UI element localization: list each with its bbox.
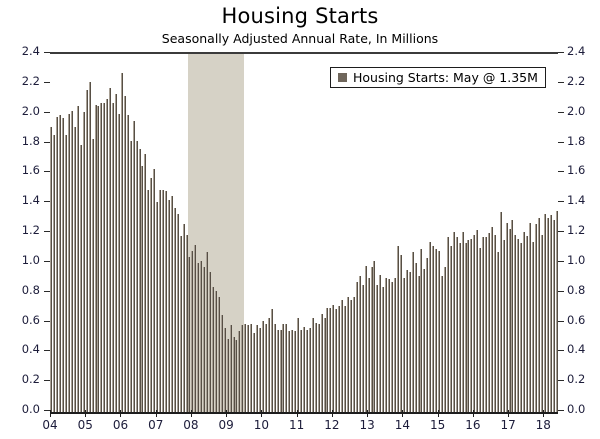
bar [470,239,472,412]
bar [459,243,461,412]
bar [144,154,146,412]
bar [450,246,452,412]
bar [315,323,317,413]
y-tick-label: 2.0 [567,106,595,118]
bar [376,285,378,412]
y-tick-label: 0.4 [12,344,40,356]
bar [191,251,193,412]
y-tick [558,171,564,172]
bar [529,223,531,412]
bar [309,328,311,412]
y-tick [558,291,564,292]
bar [265,324,267,412]
x-tick-label: 05 [73,419,97,431]
bar [127,115,129,412]
bar [74,127,76,412]
bar [506,223,508,412]
x-tick-label: 12 [320,419,344,431]
bar [282,324,284,412]
chart-subtitle: Seasonally Adjusted Annual Rate, In Mill… [0,31,600,46]
bar [206,252,208,412]
bar [121,73,123,412]
bar [312,318,314,412]
bar [212,287,214,412]
bar [268,318,270,412]
bar [503,240,505,412]
x-tick [367,410,368,417]
bar [371,267,373,412]
y-tick-label: 1.8 [567,136,595,148]
bar [403,278,405,412]
bar [95,105,97,412]
bar [297,318,299,412]
bar [183,224,185,412]
bar [426,258,428,412]
x-tick-label: 07 [144,419,168,431]
bar [130,141,132,412]
bar [385,278,387,412]
bar [350,300,352,412]
bar [227,339,229,412]
bar [409,272,411,412]
bar [71,111,73,412]
y-tick [44,82,50,83]
y-tick-label: 0.6 [12,315,40,327]
bar [188,257,190,412]
bar [491,227,493,412]
bar [136,141,138,412]
bar [262,321,264,412]
bar [218,297,220,412]
y-tick [44,350,50,351]
y-tick [44,291,50,292]
y-tick-label: 1.6 [567,165,595,177]
x-tick [191,410,192,417]
bar [326,308,328,412]
bar [141,166,143,412]
x-tick-label: 16 [461,419,485,431]
x-tick [85,410,86,417]
bar [473,235,475,413]
bar [186,235,188,413]
bar [509,229,511,412]
y-tick-label: 1.2 [567,225,595,237]
legend-swatch-icon [338,73,347,82]
bar [133,121,135,412]
bar [511,220,513,412]
bar [159,190,161,412]
bar [50,127,52,412]
bar [285,324,287,412]
y-tick [558,112,564,113]
bar [238,331,240,412]
bar [324,318,326,412]
y-tick [558,380,564,381]
bar [438,251,440,412]
bar [300,330,302,412]
bar [62,118,64,412]
bar [200,261,202,412]
bar [156,202,158,412]
bar [514,235,516,413]
x-tick [402,410,403,417]
y-tick [558,231,564,232]
bar [341,300,343,412]
bar [447,237,449,412]
bar [203,267,205,412]
bar [556,211,558,412]
x-tick-label: 11 [285,419,309,431]
y-tick-label: 2.2 [12,76,40,88]
bar [467,240,469,412]
bar [197,263,199,412]
bar [523,232,525,412]
x-tick [120,410,121,417]
x-tick-label: 04 [38,419,62,431]
bar [106,99,108,412]
x-tick-label: 09 [214,419,238,431]
bar [453,232,455,412]
bar [418,276,420,412]
y-tick-label: 0.0 [12,404,40,416]
bar [277,330,279,412]
bar [488,233,490,412]
y-tick [44,380,50,381]
bar [244,324,246,412]
bar [541,235,543,413]
y-tick [44,112,50,113]
bar [544,214,546,412]
bar [86,90,88,412]
bar [165,191,167,412]
bar [547,218,549,412]
bar [479,248,481,412]
bar [526,236,528,412]
bar [103,103,105,412]
bar [180,236,182,412]
y-tick [44,52,50,53]
x-tick [50,410,51,417]
bar [335,309,337,412]
bar [250,324,252,412]
bar [388,279,390,412]
bar [553,220,555,412]
bar [394,278,396,412]
y-tick [44,201,50,202]
y-tick [558,82,564,83]
x-tick [508,410,509,417]
bar [482,237,484,412]
y-tick-label: 1.8 [12,136,40,148]
bar [303,327,305,412]
bar [400,255,402,412]
bar [535,224,537,412]
bar [118,114,120,412]
bar [209,272,211,412]
bar [115,94,117,412]
y-tick-label: 0.0 [567,404,595,416]
bar [429,242,431,412]
x-tick-label: 13 [355,419,379,431]
bar [517,239,519,412]
y-tick [558,261,564,262]
plot-inner [50,54,558,412]
y-tick-label: 1.4 [12,195,40,207]
bar [256,325,258,412]
bar [171,196,173,412]
bar [423,269,425,412]
x-tick [473,410,474,417]
bar [494,235,496,413]
x-tick [543,410,544,417]
y-tick [558,350,564,351]
bar [406,270,408,412]
bar [59,115,61,412]
bar [353,297,355,412]
bar [53,135,55,412]
bar [318,324,320,412]
bar [147,190,149,412]
bar [365,266,367,412]
bar [538,218,540,412]
bar [224,328,226,412]
bar [97,106,99,412]
x-tick [297,410,298,417]
bar [153,169,155,412]
x-tick [261,410,262,417]
bar [476,230,478,412]
x-tick [332,410,333,417]
bar [420,249,422,412]
bar [356,282,358,412]
bar [221,315,223,412]
bar [89,82,91,412]
bar [68,114,70,412]
y-tick-label: 1.0 [567,255,595,267]
bar [100,103,102,412]
x-tick-label: 10 [249,419,273,431]
y-tick-label: 2.2 [567,76,595,88]
y-tick [44,142,50,143]
bar [465,243,467,412]
y-tick-label: 0.2 [12,374,40,386]
y-tick [558,142,564,143]
bar [235,340,237,412]
y-tick [44,231,50,232]
y-tick-label: 1.4 [567,195,595,207]
bar [109,88,111,412]
bar [368,278,370,412]
bar [150,178,152,412]
y-tick-label: 1.2 [12,225,40,237]
y-tick-label: 1.6 [12,165,40,177]
chart-legend[interactable]: Housing Starts: May @ 1.35M [330,67,546,88]
bar [441,276,443,412]
bar [274,324,276,412]
bar [397,246,399,412]
y-tick-label: 2.0 [12,106,40,118]
bar [462,232,464,412]
y-tick-label: 2.4 [12,46,40,58]
y-tick [558,410,564,411]
x-tick-label: 18 [531,419,555,431]
bar [432,246,434,412]
x-tick [156,410,157,417]
bar [253,333,255,412]
bar [532,242,534,412]
bar [168,200,170,412]
y-tick [44,171,50,172]
bar [444,267,446,412]
legend-label: Housing Starts: May @ 1.35M [353,70,538,85]
x-tick-label: 08 [179,419,203,431]
bar [177,214,179,412]
bar [56,117,58,412]
bar [435,249,437,412]
bar [456,237,458,412]
x-tick-label: 17 [496,419,520,431]
y-tick [44,261,50,262]
bar [259,328,261,412]
bar [485,237,487,412]
bar [415,263,417,412]
bar [280,330,282,412]
y-tick-label: 0.6 [567,315,595,327]
bar [241,325,243,412]
x-tick-label: 15 [426,419,450,431]
bar [391,282,393,412]
bar [329,308,331,412]
y-tick-label: 0.8 [12,285,40,297]
y-tick [44,321,50,322]
bar [112,103,114,412]
y-tick-label: 2.4 [567,46,595,58]
bar [288,331,290,412]
chart-title: Housing Starts [0,4,600,28]
bar [338,306,340,412]
bar [83,112,85,412]
bar [139,149,141,412]
y-tick [558,201,564,202]
y-tick [558,321,564,322]
bar [124,96,126,412]
y-tick-label: 1.0 [12,255,40,267]
bar [247,325,249,412]
bar [215,291,217,412]
bar [412,252,414,412]
x-tick [226,410,227,417]
bar [162,190,164,412]
bar [80,145,82,412]
y-tick-label: 0.4 [567,344,595,356]
x-tick-label: 14 [390,419,414,431]
bar [92,139,94,412]
bar [233,337,235,412]
plot-area [50,52,558,414]
bar [550,215,552,412]
bar [347,297,349,412]
bar [373,261,375,412]
bar [497,252,499,412]
bar [65,135,67,412]
bar [500,212,502,412]
bar [174,208,176,412]
x-tick-label: 06 [108,419,132,431]
housing-starts-chart: Housing Starts Seasonally Adjusted Annua… [0,0,600,439]
bar [294,331,296,412]
x-tick [438,410,439,417]
bar [520,243,522,412]
bar [382,287,384,412]
bar [230,325,232,412]
bar [77,106,79,412]
bar [321,314,323,412]
y-tick [558,52,564,53]
y-tick-label: 0.8 [567,285,595,297]
y-tick-label: 0.2 [567,374,595,386]
bar [379,275,381,412]
bar [344,306,346,412]
bar [291,330,293,412]
bar [306,330,308,412]
bar [359,276,361,412]
bar [332,305,334,412]
bar [194,245,196,412]
bar [362,285,364,412]
bar [271,309,273,412]
